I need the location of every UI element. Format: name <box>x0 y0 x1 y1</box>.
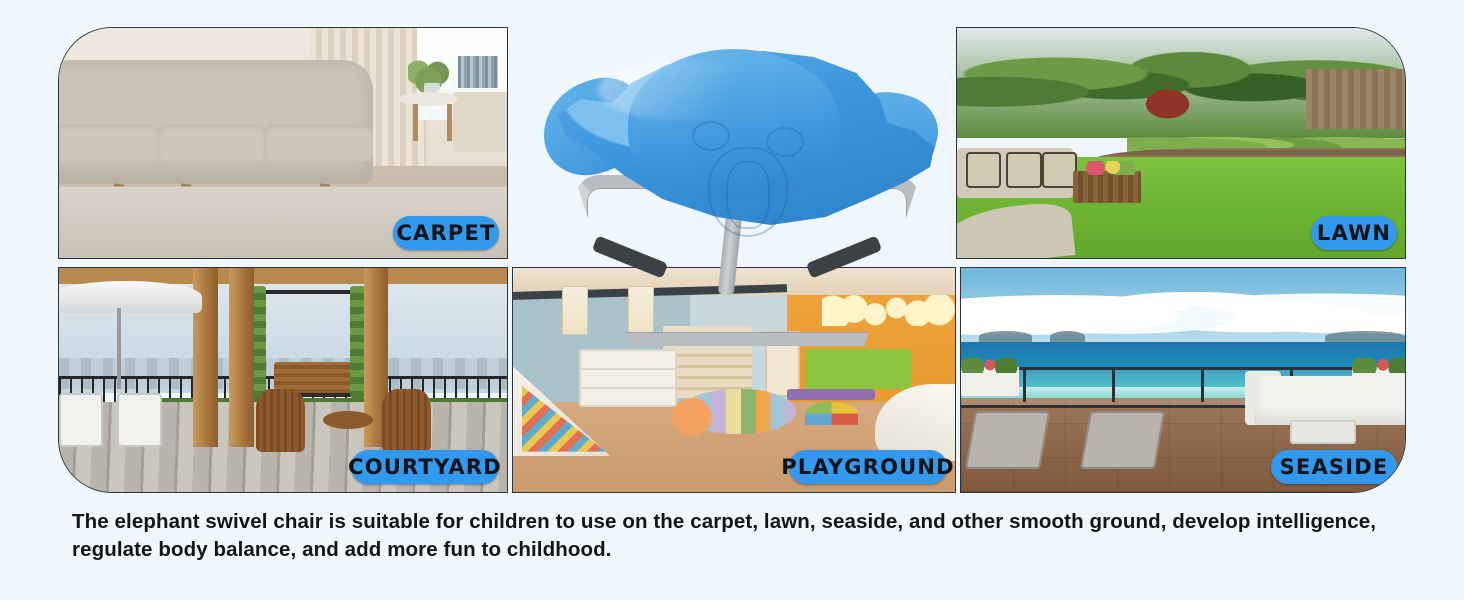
courtyard-umbrella <box>59 281 202 312</box>
scene-panel-courtyard: COURTYARD <box>58 267 508 493</box>
playground-ball <box>672 398 712 436</box>
badge-lawn: LAWN <box>1311 216 1397 250</box>
lawn-fence <box>1306 69 1405 129</box>
seaside-planter-plant <box>1352 358 1405 374</box>
lawn-patio-chair <box>1042 152 1077 188</box>
badge-seaside: SEASIDE <box>1271 450 1397 484</box>
badge-seaside-label: SEASIDE <box>1280 455 1389 479</box>
seaside-rail-post <box>1112 367 1115 403</box>
badge-playground: PLAYGROUND <box>789 450 947 484</box>
lawn-flowers <box>1078 161 1136 175</box>
carpet-sofa-seat <box>59 125 158 162</box>
courtyard-white-chair <box>117 393 161 446</box>
lawn-wood-planter <box>1073 171 1140 203</box>
badge-lawn-label: LAWN <box>1317 221 1391 245</box>
playground-shelf-row <box>579 387 676 389</box>
courtyard-column <box>229 268 254 447</box>
badge-courtyard: COURTYARD <box>351 450 499 484</box>
chair-embossed-eye-left <box>692 121 730 151</box>
playground-shelf-row <box>579 368 676 370</box>
seaside-planter-plant <box>961 358 1019 374</box>
badge-carpet-label: CARPET <box>396 221 495 245</box>
carpet-cabinet <box>453 92 507 152</box>
seaside-clouds <box>961 277 1405 335</box>
carpet-sofa-seat <box>265 125 373 162</box>
lawn-red-maple <box>1136 83 1199 124</box>
scene-panel-carpet: CARPET <box>58 27 508 259</box>
seaside-island <box>1325 331 1405 342</box>
courtyard-wood-table <box>323 411 372 429</box>
carpet-table-leg <box>447 104 452 141</box>
playground-shelving <box>579 349 676 407</box>
playground-foam-mat <box>787 389 875 400</box>
seaside-rail-post <box>1201 367 1204 403</box>
lawn-patio-chair <box>966 152 1001 188</box>
elephant-swivel-chair-product-image <box>540 35 940 325</box>
carpet-sofa-seat <box>158 125 266 162</box>
product-description-caption: The elephant swivel chair is suitable fo… <box>72 508 1392 565</box>
playground-green-wall <box>805 349 911 389</box>
courtyard-wood-chair <box>256 389 305 452</box>
seaside-island <box>1050 331 1086 342</box>
courtyard-vine <box>350 286 364 398</box>
courtyard-umbrella-pole <box>117 308 121 389</box>
seaside-coffee-table <box>1290 420 1356 444</box>
seaside-lounger <box>965 411 1051 469</box>
courtyard-wood-chair <box>382 389 431 452</box>
chair-embossed-trunk-detail <box>726 161 770 229</box>
carpet-table-leg <box>413 104 418 141</box>
scene-panel-seaside: SEASIDE <box>960 267 1406 493</box>
scene-panel-lawn: LAWN <box>956 27 1406 259</box>
chair-gloss-highlight <box>598 59 778 121</box>
seaside-sofa <box>1254 376 1405 425</box>
seaside-lounger <box>1080 411 1166 469</box>
infographic-stage: CARPET LAWN <box>0 0 1464 600</box>
lawn-patio-chair <box>1006 152 1041 188</box>
badge-playground-label: PLAYGROUND <box>781 455 955 479</box>
badge-courtyard-label: COURTYARD <box>348 455 502 479</box>
badge-carpet: CARPET <box>393 216 499 250</box>
seaside-rail-post <box>1023 367 1026 403</box>
playground-dome-toy <box>805 402 858 424</box>
carpet-bookshelf <box>458 56 498 88</box>
courtyard-white-chair <box>59 393 103 446</box>
seaside-island <box>979 331 1032 342</box>
